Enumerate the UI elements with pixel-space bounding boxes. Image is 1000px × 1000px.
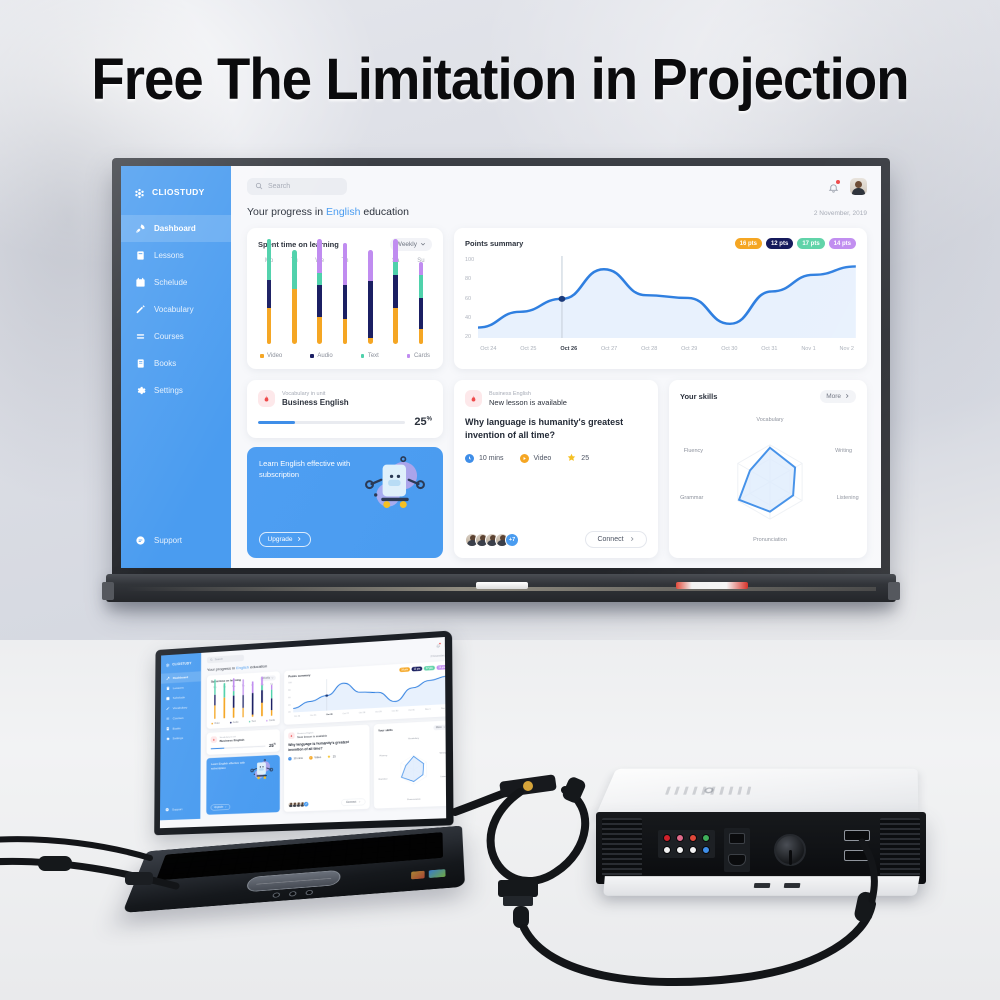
promo-text: Learn English effective with subscriptio…	[259, 458, 354, 481]
base-slot	[754, 883, 771, 888]
x-tick: Oct 26	[560, 346, 577, 352]
bell-icon[interactable]	[828, 181, 839, 193]
y-axis-labels: 10080604020	[465, 256, 474, 352]
sidebar-item-label: Lessons	[173, 686, 184, 690]
chevron-right-icon	[296, 536, 302, 544]
gear-icon	[166, 737, 170, 741]
topbar-actions	[436, 641, 446, 649]
brand-name: CLIOSTUDY	[152, 187, 205, 197]
bar-segment-audio	[261, 690, 263, 703]
vocabulary-progress: 25%	[211, 743, 276, 751]
skills-card: Your skills More VocabularyWritingListen…	[669, 380, 867, 558]
points-badge[interactable]: 12 pts	[412, 666, 423, 671]
rca-port-white[interactable]	[663, 846, 671, 854]
bar-segment-video	[261, 703, 263, 717]
more-label: More	[826, 393, 841, 400]
rca-port-blue[interactable]	[702, 846, 710, 854]
audio-port	[272, 892, 280, 898]
bar-segment-audio	[267, 280, 272, 308]
vocabulary-progress: 25%	[258, 416, 432, 428]
bar-segment-cards	[261, 677, 263, 686]
projector-rear-panel	[596, 812, 926, 884]
marker-tray	[106, 574, 896, 602]
legend-label: Text	[368, 353, 379, 359]
sidebar-item-label: Support	[154, 536, 182, 545]
page-title-accent: English	[236, 665, 249, 670]
lesson-meta-item: 10 mins	[288, 757, 303, 761]
sidebar-item-label: Vocabulary	[154, 305, 194, 314]
flame-icon	[465, 390, 482, 407]
radar-axis-label: Writing	[440, 752, 447, 755]
white-marker	[476, 582, 528, 589]
points-summary-header: Points summary 16 pts12 pts17 pts14 pts	[465, 238, 856, 249]
lesson-availability: New lesson is available	[489, 398, 567, 407]
points-badge[interactable]: 17 pts	[797, 238, 824, 249]
more-button[interactable]: More	[433, 725, 446, 731]
notebook-icon	[166, 727, 170, 731]
sidebar: CLIOSTUDY Dashboard Lessons Schelude Voc…	[121, 166, 231, 568]
bar-segment-cards	[393, 239, 398, 262]
legend-label: Audio	[233, 721, 239, 724]
left-column: Vocabulary in unit Business English 25%	[206, 729, 280, 815]
bar-segment-audio	[419, 298, 424, 330]
progress-percent-value: 25	[414, 416, 426, 428]
star-icon	[567, 453, 576, 464]
x-tick: Oct 24	[294, 715, 300, 718]
bar-segment-text	[393, 262, 398, 275]
page-title-prefix: Your progress in	[207, 666, 236, 672]
page-title-suffix: education	[249, 664, 267, 670]
rca-port-pink[interactable]	[676, 834, 684, 842]
more-button[interactable]: More	[820, 390, 856, 403]
bar-segment-text	[223, 683, 225, 698]
laptop-audio-ports	[272, 890, 313, 898]
bar-segment-video	[317, 317, 322, 344]
audio-port	[305, 890, 313, 896]
bar-segment-cards	[242, 679, 244, 695]
sidebar-item-label: Courses	[173, 716, 184, 720]
flame-icon	[288, 732, 294, 739]
vocabulary-name: Business English	[282, 398, 349, 407]
x-tick: Oct 28	[359, 712, 365, 715]
bar-chart-legend: VideoAudioTextCards	[258, 353, 432, 359]
charts-row: Spent time on learning Weekly MoTuWeThFr…	[247, 228, 867, 369]
connect-label: Connect	[346, 801, 356, 804]
bar-segment-audio	[393, 275, 398, 309]
x-tick: Oct 31	[761, 346, 777, 352]
points-summary-card: Points summary 16 pts12 pts17 pts14 pts …	[454, 228, 867, 369]
lesson-meta-item: Video	[309, 756, 321, 760]
bar-column: Fr	[250, 684, 256, 717]
sidebar-spacer	[121, 404, 231, 527]
sidebar: CLIOSTUDY Dashboard Lessons Schelude Voc…	[160, 653, 201, 820]
rca-ports[interactable]	[658, 830, 715, 858]
stacked-bar	[252, 681, 254, 717]
avatar-head	[855, 181, 862, 188]
x-tick: Oct 27	[343, 713, 349, 716]
projector-vent-right	[880, 818, 920, 876]
chat-icon	[135, 535, 146, 546]
chevron-right-icon	[844, 393, 850, 401]
x-tick: Nov 2	[441, 707, 446, 710]
power-inlet[interactable]	[728, 854, 746, 866]
bell-icon[interactable]	[436, 643, 440, 648]
bar-column: Tu	[221, 686, 227, 719]
radar-axis-label: Listening	[837, 495, 859, 501]
clock-icon	[465, 454, 474, 463]
participant-avatars[interactable]: +7	[465, 533, 519, 547]
sidebar-item-schelude[interactable]: Schelude	[121, 269, 231, 296]
bar-segment-cards	[233, 678, 235, 691]
page-date: 2 November, 2019	[430, 654, 446, 658]
dashboard-app-mirrored: CLIOSTUDY Dashboard Lessons Schelude Voc…	[160, 637, 446, 820]
line-chart-plot	[478, 256, 856, 343]
bar-segment-audio	[343, 285, 348, 319]
rca-port-red[interactable]	[663, 834, 671, 842]
gear-icon	[135, 385, 146, 396]
stacked-bar	[343, 243, 348, 344]
book-icon	[135, 250, 146, 261]
lesson-header: Business English New lesson is available	[288, 729, 365, 739]
projector	[596, 756, 926, 916]
legend-label: Text	[252, 720, 256, 722]
focus-dial[interactable]	[774, 834, 806, 866]
legend-swatch	[310, 354, 314, 358]
subscription-promo-card[interactable]: Learn English effective with subscriptio…	[247, 447, 443, 558]
skills-header: Your skills More	[680, 390, 856, 403]
upgrade-label: Upgrade	[214, 806, 223, 809]
lesson-subtitle: Business English	[489, 391, 567, 397]
page-title-accent: English	[326, 206, 360, 218]
lesson-meta-item: 10 mins	[465, 454, 504, 463]
chevron-right-icon	[225, 805, 227, 808]
lesson-meta-label: Video	[534, 455, 552, 462]
bar-segment-video	[271, 710, 273, 716]
page-title: Your progress in English education	[207, 664, 267, 672]
bar-segment-text	[214, 679, 216, 694]
legend-item-video: Video	[260, 353, 282, 359]
skills-card: Your skills More VocabularyWritingListen…	[374, 720, 446, 808]
legend-item-audio: Audio	[310, 353, 332, 359]
bar-segment-video	[343, 319, 348, 344]
rca-port-white3[interactable]	[689, 846, 697, 854]
sidebar-item-books[interactable]: Books	[121, 350, 231, 377]
bar-segment-audio	[317, 285, 322, 317]
legend-swatch	[407, 354, 411, 358]
avatar-body	[852, 188, 865, 195]
connect-button[interactable]: Connect	[585, 531, 647, 548]
legend-item-cards: Cards	[266, 719, 275, 722]
vocabulary-name: Business English	[220, 738, 245, 743]
avatar[interactable]	[850, 178, 867, 195]
lesson-meta-item: 25	[567, 453, 589, 464]
more-label: More	[436, 726, 442, 729]
lesson-meta-item: Video	[520, 454, 552, 463]
topbar: Search	[247, 178, 867, 195]
bar-segment-video	[393, 308, 398, 344]
sidebar-item-label: Books	[154, 359, 176, 368]
points-badge[interactable]: 16 pts	[399, 667, 410, 672]
radar-svg	[680, 412, 856, 548]
sidebar-item-label: Dashboard	[154, 224, 196, 233]
lesson-meta-label: 10 mins	[479, 455, 504, 462]
chevron-down-icon	[420, 241, 426, 249]
power-switch[interactable]	[729, 833, 745, 844]
sidebar-item-support[interactable]: Support	[121, 527, 231, 554]
bar-segment-audio	[233, 696, 235, 708]
y-tick: 40	[288, 704, 291, 706]
legend-swatch	[249, 721, 250, 722]
pencil-icon	[135, 304, 146, 315]
bar-column: Fr	[362, 258, 378, 344]
points-badges: 16 pts12 pts17 pts14 pts	[399, 665, 446, 672]
lesson-meta-item: 25	[327, 755, 335, 760]
cards-row: Vocabulary in unit Business English 25%	[247, 380, 867, 558]
avatar-overflow-count[interactable]: +7	[303, 801, 308, 807]
bar-segment-audio	[368, 281, 373, 338]
legend-label: Cards	[269, 719, 275, 722]
radar-axis-label: Fluency	[684, 448, 703, 454]
robot-mascot-icon	[248, 758, 275, 783]
hdmi-port[interactable]	[844, 830, 870, 841]
left-column: Vocabulary in unit Business English 25%	[247, 380, 443, 558]
line-chart-wrap: 10080604020 Oct 24Oct 25Oct 26Oct 27Oct …	[288, 672, 446, 718]
projector-vent-left	[602, 818, 642, 876]
bar-column: Th	[337, 258, 353, 344]
radar-axis-label: Writing	[835, 448, 852, 454]
x-tick: Nov 2	[840, 346, 854, 352]
bar-segment-audio	[242, 695, 244, 708]
bar-column: Su	[269, 683, 275, 716]
laptop-base	[122, 826, 465, 913]
chevron-right-icon	[629, 536, 635, 544]
search-placeholder: Search	[215, 658, 223, 661]
sidebar-item-label: Courses	[154, 332, 184, 341]
connect-label: Connect	[597, 536, 623, 543]
vocabulary-subtitle: Vocabulary in unit	[282, 391, 349, 397]
x-tick: Oct 29	[375, 711, 381, 714]
search-input[interactable]: Search	[207, 655, 244, 664]
lesson-meta-label: 25	[333, 755, 336, 758]
list-icon	[166, 716, 170, 720]
rca-port-red2[interactable]	[689, 834, 697, 842]
radar-axis-label: Listening	[440, 776, 446, 779]
sidebar-item-dashboard[interactable]: Dashboard	[121, 215, 231, 242]
percent-symbol: %	[427, 416, 432, 422]
logo-icon	[134, 186, 145, 197]
radar-axis-label: Pronunciation	[407, 798, 420, 801]
projector-base	[603, 876, 919, 896]
y-tick: 20	[288, 711, 291, 713]
subscription-promo-card[interactable]: Learn English effective with subscriptio…	[206, 755, 280, 815]
power-socket[interactable]	[724, 828, 750, 872]
sidebar-item-settings[interactable]: Settings	[121, 377, 231, 404]
brand: CLIOSTUDY	[121, 180, 231, 215]
line-chart-svg	[478, 256, 856, 338]
lesson-meta-label: Video	[314, 756, 321, 759]
rca-port-green[interactable]	[702, 834, 710, 842]
stacked-bar	[317, 239, 322, 344]
points-summary-title: Points summary	[288, 674, 310, 679]
chevron-right-icon	[358, 800, 360, 803]
rocket-icon	[135, 223, 146, 234]
robot-mascot-icon	[359, 455, 431, 517]
bar-column: Th	[240, 685, 246, 718]
stacked-bar	[271, 685, 273, 716]
vocabulary-header: Vocabulary in unit Business English	[258, 390, 432, 407]
bar-column: We	[312, 258, 328, 344]
legend-item-video: Video	[211, 722, 219, 725]
rocket-icon	[166, 676, 170, 680]
progress-percent: 25%	[269, 743, 276, 748]
legend-label: Video	[267, 353, 282, 359]
laptop-sticker	[429, 869, 446, 878]
skills-title: Your skills	[680, 392, 717, 401]
radar-axis-label: Vocabulary	[756, 417, 783, 423]
points-badge[interactable]: 14 pts	[829, 238, 856, 249]
laptop-touchpad[interactable]	[245, 870, 341, 892]
progress-fill	[211, 747, 225, 749]
stacked-bar	[214, 679, 216, 719]
bar-segment-video	[252, 714, 254, 716]
line-chart-svg	[293, 672, 446, 712]
bar-segment-video	[242, 708, 244, 718]
percent-symbol: %	[274, 743, 276, 745]
legend-label: Audio	[317, 353, 332, 359]
y-tick: 100	[288, 682, 291, 684]
x-tick: Oct 24	[480, 346, 496, 352]
notification-dot	[836, 180, 840, 184]
bar-segment-text	[317, 273, 322, 286]
sidebar-item-lessons[interactable]: Lessons	[121, 242, 231, 269]
x-tick: Oct 31	[408, 709, 414, 712]
radar-chart: VocabularyWritingListeningPronunciationG…	[680, 412, 856, 548]
upgrade-label: Upgrade	[268, 536, 293, 543]
lesson-meta-label: 25	[581, 455, 589, 462]
lesson-card: Business English New lesson is available…	[454, 380, 658, 558]
lesson-question: Why language is humanity's greatest inve…	[465, 416, 647, 442]
book-icon	[166, 686, 170, 690]
bar-segment-video	[368, 338, 373, 344]
hdmi-port[interactable]	[844, 850, 870, 861]
sidebar-item-support[interactable]: Support	[160, 803, 200, 815]
bar-segment-text	[292, 250, 297, 290]
bar-segment-video	[292, 289, 297, 344]
skills-title: Your skills	[378, 728, 393, 732]
page-headline: Free The Limitation in Projection	[30, 46, 970, 113]
lesson-card: Business English New lesson is available…	[284, 725, 370, 812]
upgrade-button[interactable]: Upgrade	[211, 804, 230, 810]
flame-icon	[211, 736, 217, 743]
sidebar-item-label: Schelude	[173, 696, 185, 700]
bar-column: Mo	[261, 258, 277, 344]
lesson-meta: 10 minsVideo25	[288, 753, 365, 761]
points-badge[interactable]: 16 pts	[735, 238, 762, 249]
stacked-bar	[292, 250, 297, 345]
bar-chart: MoTuWeThFrSaSu	[211, 683, 276, 719]
legend-label: Cards	[414, 353, 430, 359]
notification-dot	[439, 643, 441, 645]
bar-column: Sa	[259, 684, 265, 717]
search-input[interactable]: Search	[247, 178, 347, 195]
radar-axis-label: Grammar	[680, 495, 703, 501]
radar-axis-label: Grammar	[378, 778, 387, 781]
bar-segment-text	[267, 239, 272, 280]
interactive-whiteboard: CLIOSTUDY Dashboard Lessons Schelude Voc…	[112, 158, 890, 598]
upgrade-button[interactable]: Upgrade	[259, 532, 311, 547]
calendar-icon	[135, 277, 146, 288]
legend-item-text: Text	[361, 353, 379, 359]
points-badge[interactable]: 14 pts	[436, 665, 446, 670]
logo-icon	[166, 662, 170, 666]
y-tick: 60	[288, 696, 291, 698]
lesson-availability: New lesson is available	[297, 734, 327, 739]
radar-chart: VocabularyWritingListeningPronunciationG…	[378, 733, 446, 804]
radar-series	[401, 756, 423, 782]
sidebar-item-vocabulary[interactable]: Vocabulary	[121, 296, 231, 323]
chevron-right-icon	[443, 726, 445, 729]
touchpad-divider	[256, 878, 331, 885]
promo-text: Learn English effective with subscriptio…	[211, 761, 246, 771]
brand-name: CLIOSTUDY	[172, 661, 191, 666]
avatar-overflow-count[interactable]: +7	[505, 533, 519, 547]
page-header: Your progress in English education 2 Nov…	[247, 206, 867, 218]
bar-segment-cards	[317, 239, 322, 273]
sidebar-item-label: Vocabulary	[173, 706, 187, 710]
rca-port-white2[interactable]	[676, 846, 684, 854]
radar-svg	[378, 733, 446, 804]
search-placeholder: Search	[268, 183, 290, 190]
bar-segment-audio	[271, 698, 273, 710]
sidebar-item-label: Lessons	[154, 251, 184, 260]
x-tick: Oct 25	[310, 714, 316, 717]
clock-icon	[288, 757, 291, 761]
stacked-bar	[368, 250, 373, 345]
lesson-question: Why language is humanity's greatest inve…	[288, 739, 365, 753]
bar-segment-text	[419, 275, 424, 298]
area-fill	[293, 676, 446, 712]
y-tick: 40	[465, 315, 474, 321]
chevron-down-icon	[271, 676, 273, 679]
points-badge[interactable]: 17 pts	[424, 666, 435, 671]
bar-column: Tu	[286, 258, 302, 344]
sidebar-item-label: Books	[173, 726, 181, 730]
notebook-icon	[135, 358, 146, 369]
legend-swatch	[230, 722, 231, 723]
bar-chart: MoTuWeThFrSaSu	[258, 258, 432, 344]
vocabulary-card: Vocabulary in unit Business English 25%	[247, 380, 443, 438]
radar-axis-label: Pronunciation	[753, 537, 787, 543]
highlight-point	[559, 296, 566, 302]
sidebar-item-courses[interactable]: Courses	[121, 323, 231, 350]
x-tick: Oct 30	[392, 710, 398, 713]
laptop-lid: CLIOSTUDY Dashboard Lessons Schelude Voc…	[154, 630, 453, 835]
x-tick: Oct 29	[681, 346, 697, 352]
avatar[interactable]	[445, 641, 446, 648]
points-summary-card: Points summary 16 pts12 pts17 pts14 pts …	[284, 661, 446, 725]
points-badge[interactable]: 12 pts	[766, 238, 793, 249]
progress-track	[211, 745, 266, 749]
connect-button[interactable]: Connect	[341, 798, 365, 806]
lesson-footer: +7 Connect	[465, 531, 647, 548]
radar-axis-label: Fluency	[380, 755, 388, 758]
participant-avatars[interactable]: +7	[288, 801, 309, 807]
page-title-prefix: Your progress in	[247, 206, 326, 218]
progress-percent: 25%	[414, 416, 432, 428]
stacked-bar	[419, 262, 424, 344]
bar-chart-legend: VideoAudioTextCards	[211, 719, 276, 725]
x-tick: Nov 1	[801, 346, 815, 352]
